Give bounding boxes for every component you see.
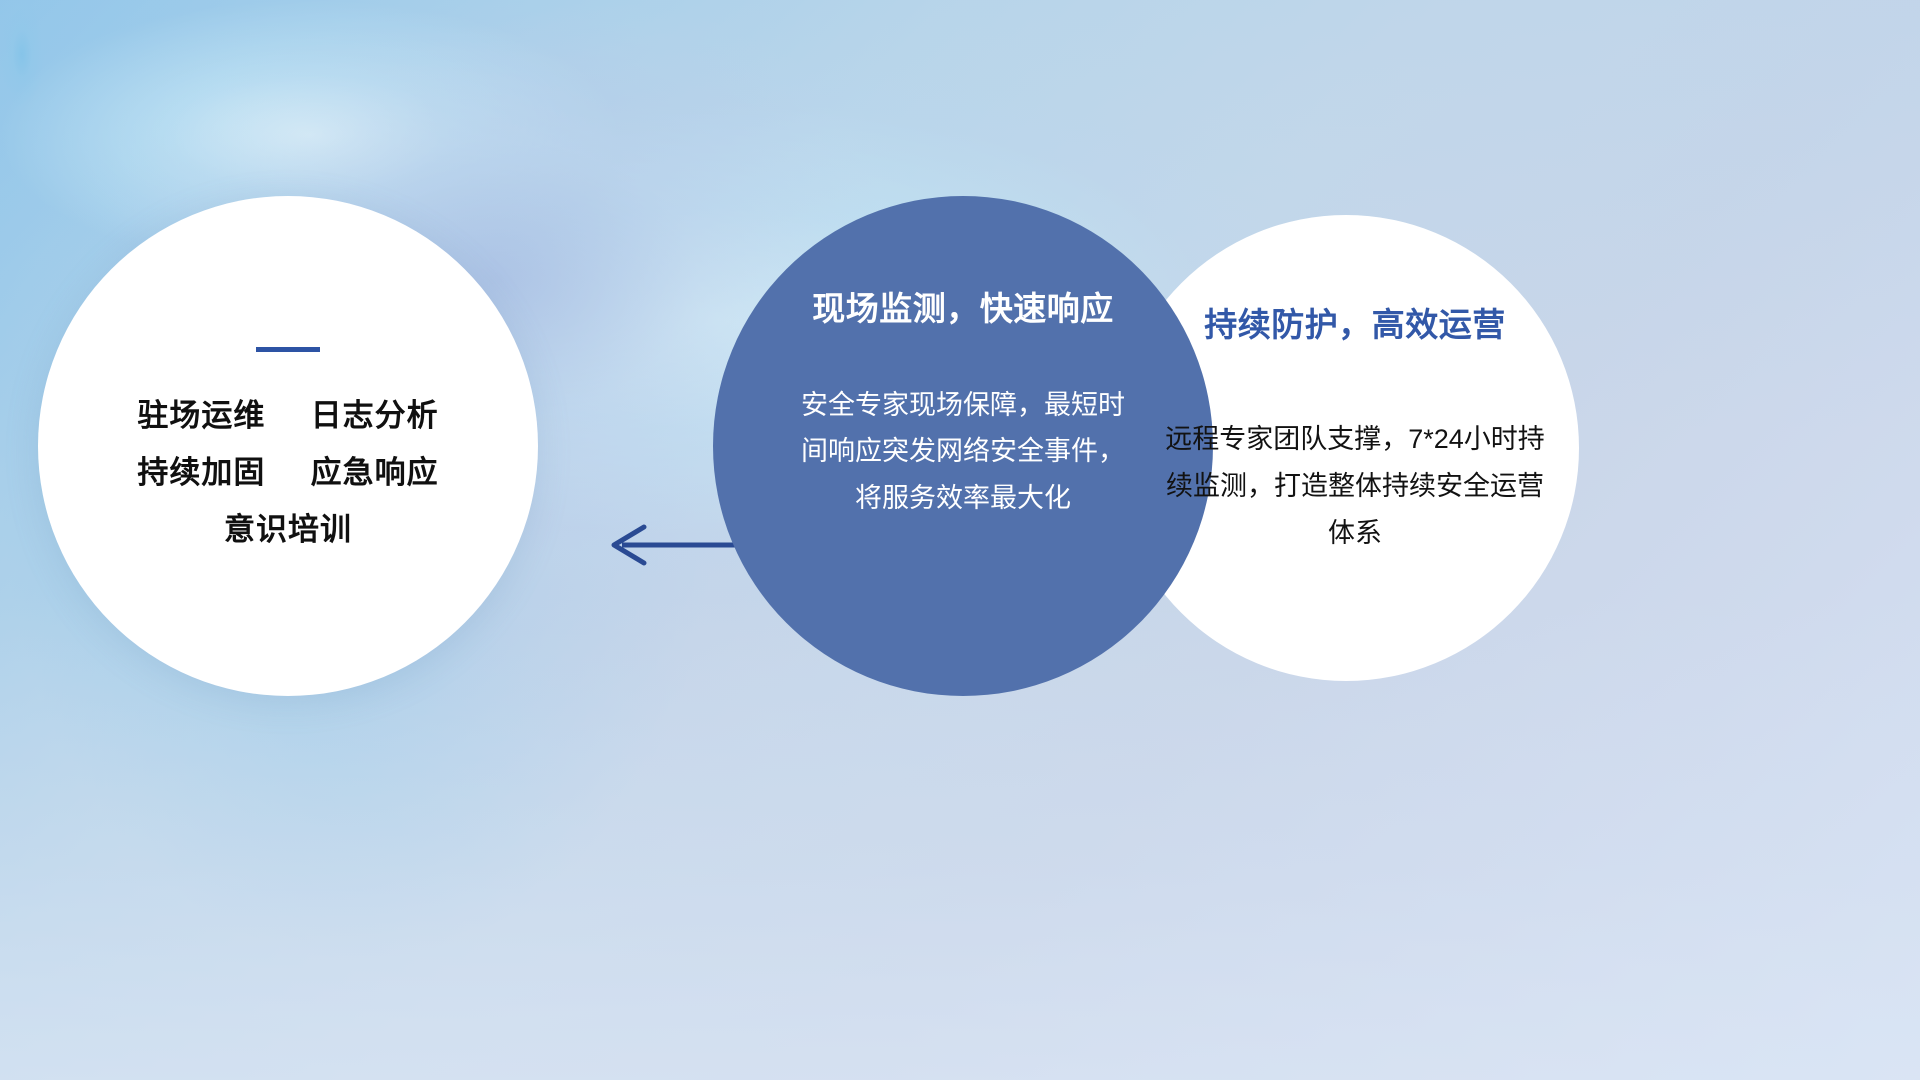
capability-item-hardening: 持续加固 (137, 455, 265, 490)
right-circle-title: 持续防护，高效运营 (1204, 298, 1506, 346)
right-circle-body: 远程专家团队支撑，7*24小时持续监测，打造整体持续安全运营体系 (1165, 416, 1545, 557)
title-divider-bar (256, 347, 320, 352)
middle-circle-title: 现场监测，快速响应 (812, 282, 1114, 330)
capability-item-incident-response: 应急响应 (311, 455, 439, 490)
capability-circle-left[interactable]: 驻场运维 日志分析 持续加固 应急响应 意识培训 (38, 196, 538, 696)
capability-item-log-analysis: 日志分析 (311, 398, 439, 433)
capability-row-2: 持续加固 应急响应 (137, 457, 438, 488)
capability-list: 驻场运维 日志分析 持续加固 应急响应 意识培训 (137, 400, 438, 545)
right-circle-content: 持续防护，高效运营 远程专家团队支撑，7*24小时持续监测，打造整体持续安全运营… (1140, 270, 1570, 557)
capability-item-onsite-ops: 驻场运维 (137, 398, 265, 433)
middle-circle-body: 安全专家现场保障，最短时间响应突发网络安全事件，将服务效率最大化 (798, 382, 1128, 521)
capability-item-awareness-training: 意识培训 (137, 514, 438, 545)
capability-row-1: 驻场运维 日志分析 (137, 400, 438, 431)
capability-circle-middle[interactable]: 现场监测，快速响应 安全专家现场保障，最短时间响应突发网络安全事件，将服务效率最… (713, 196, 1213, 696)
slide-canvas: 驻场运维 日志分析 持续加固 应急响应 意识培训 现场监测，快速响应 安全专家现… (0, 0, 1920, 1080)
